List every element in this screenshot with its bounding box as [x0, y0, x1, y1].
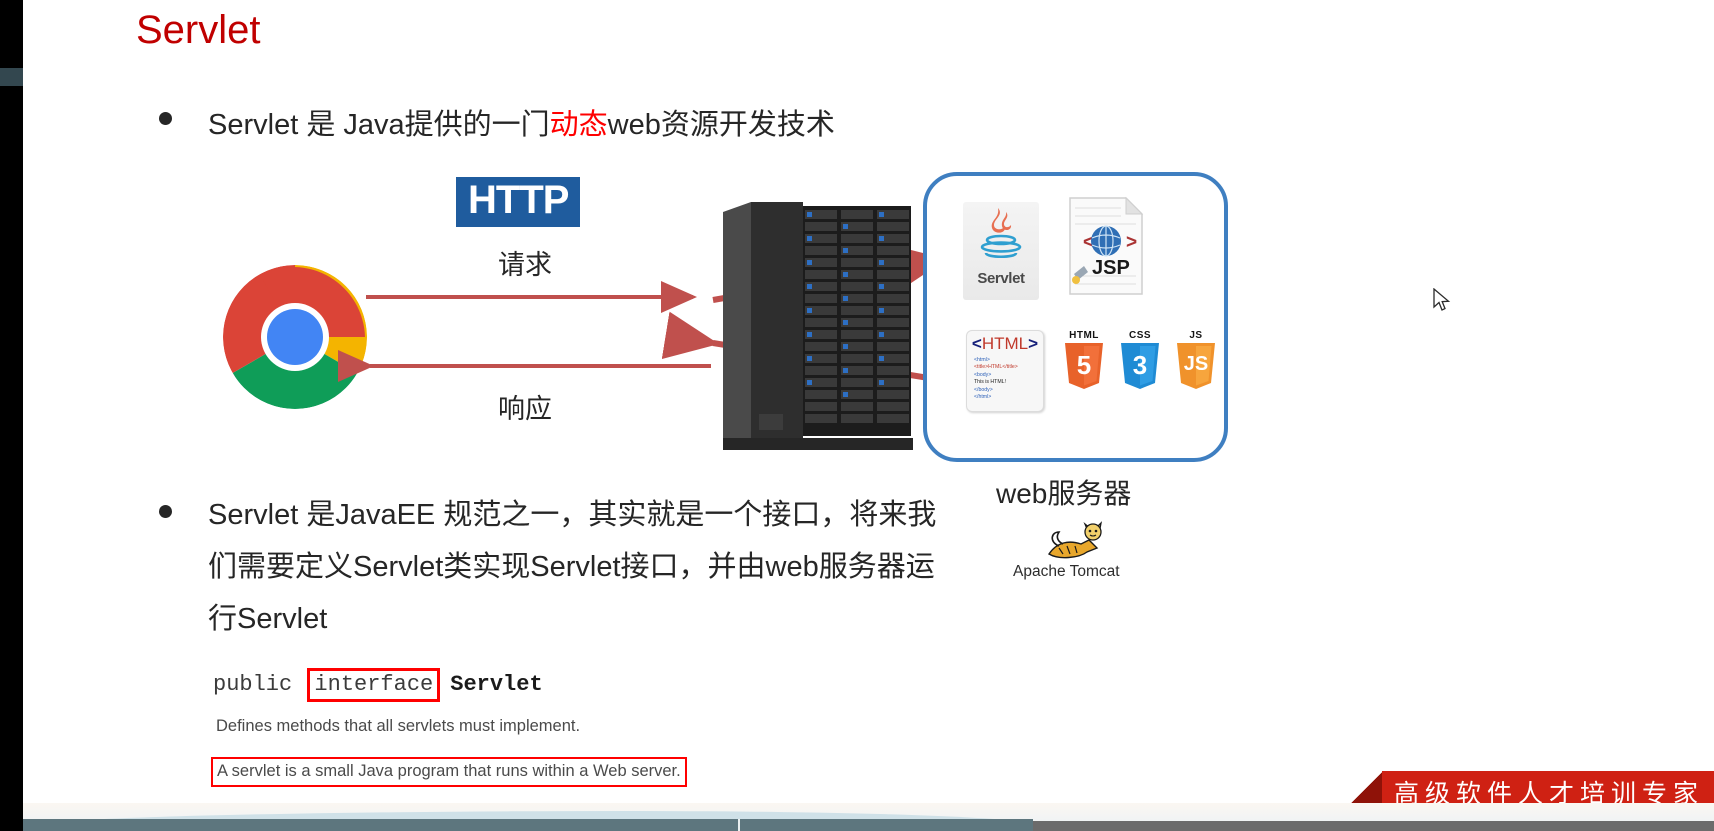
http-badge: HTTP: [456, 177, 580, 227]
html-snippet: <html> <title>HTML</title> <body> This i…: [967, 354, 1043, 401]
bullet1-part1: Servlet 是 Java提供的一门: [208, 109, 550, 141]
svg-text:>: >: [1126, 232, 1137, 253]
desktop-strip: [0, 803, 1714, 831]
js-badge: JS JS: [1175, 330, 1217, 380]
html-snippet-line: <title>HTML</title>: [974, 364, 1043, 371]
javadoc-summary: Defines methods that all servlets must i…: [216, 717, 580, 736]
desktop-left-dark: [0, 803, 23, 831]
window-separator: [738, 819, 740, 831]
taskbar-right: [1033, 821, 1714, 831]
bullet-dot-1: [159, 112, 172, 125]
html-snippet-line: </html>: [974, 394, 1043, 401]
code-keyword-interface: interface: [307, 668, 440, 702]
svg-text:JSP: JSP: [1092, 257, 1130, 279]
html-card-title: <HTML>: [967, 334, 1043, 354]
css3-badge: CSS 3: [1119, 330, 1161, 380]
js-badge-number: JS: [1175, 353, 1217, 376]
html5-badge-number: 5: [1063, 350, 1105, 381]
html-snippet-line: <body>: [974, 372, 1043, 379]
html-document-icon: <HTML> <html> <title>HTML</title> <body>…: [966, 330, 1044, 412]
html5-badge-caption: HTML: [1063, 330, 1105, 341]
bullet-text-2: Servlet 是JavaEE 规范之一，其实就是一个接口，将来我们需要定义Se…: [208, 489, 938, 645]
chrome-browser-icon: [219, 261, 371, 413]
bullet-text-1: Servlet 是 Java提供的一门动态web资源开发技术: [208, 99, 835, 151]
html-snippet-line: This is HTML!: [974, 379, 1043, 386]
slide-content: Servlet Servlet 是 Java提供的一门动态web资源开发技术 S…: [23, 0, 1714, 831]
bullet1-part2: web资源开发技术: [608, 109, 835, 141]
html-snippet-line: </body>: [974, 387, 1043, 394]
tomcat-icon: [1043, 518, 1105, 562]
web-server-caption: web服务器: [996, 472, 1131, 512]
code-signature: public interfaceServlet: [213, 672, 543, 697]
html-title-close: >: [1028, 334, 1038, 353]
code-modifier: public: [213, 672, 292, 697]
request-label: 请求: [498, 243, 552, 282]
css3-badge-caption: CSS: [1119, 330, 1161, 341]
response-label: 响应: [498, 387, 552, 426]
css3-badge-number: 3: [1119, 350, 1161, 381]
jsp-icon: < > JSP: [1066, 196, 1146, 296]
bullet-dot-2: [159, 505, 172, 518]
servlet-java-icon: Servlet: [963, 202, 1039, 300]
window-bottom-bar: [23, 819, 1033, 831]
html-title-name: HTML: [982, 334, 1028, 353]
side-tab: [0, 68, 23, 86]
server-rack-icon: [723, 200, 913, 452]
tomcat-label: Apache Tomcat: [1013, 563, 1120, 581]
mouse-cursor: [1433, 288, 1453, 314]
window-left-rail: [0, 0, 23, 831]
slide-canvas: Servlet Servlet 是 Java提供的一门动态web资源开发技术 S…: [0, 0, 1714, 831]
servlet-card-label: Servlet: [977, 270, 1024, 287]
html-title-open: <: [972, 334, 982, 353]
page-title: Servlet: [136, 8, 261, 53]
tech-badge-group: HTML 5 CSS 3 JS JS: [1063, 330, 1218, 402]
html-snippet-line: <html>: [974, 357, 1043, 364]
javadoc-boxed-note: A servlet is a small Java program that r…: [211, 757, 687, 787]
bullet1-highlight: 动态: [550, 109, 608, 141]
html5-badge: HTML 5: [1063, 330, 1105, 380]
js-badge-caption: JS: [1175, 330, 1217, 341]
code-type-name: Servlet: [450, 672, 542, 697]
